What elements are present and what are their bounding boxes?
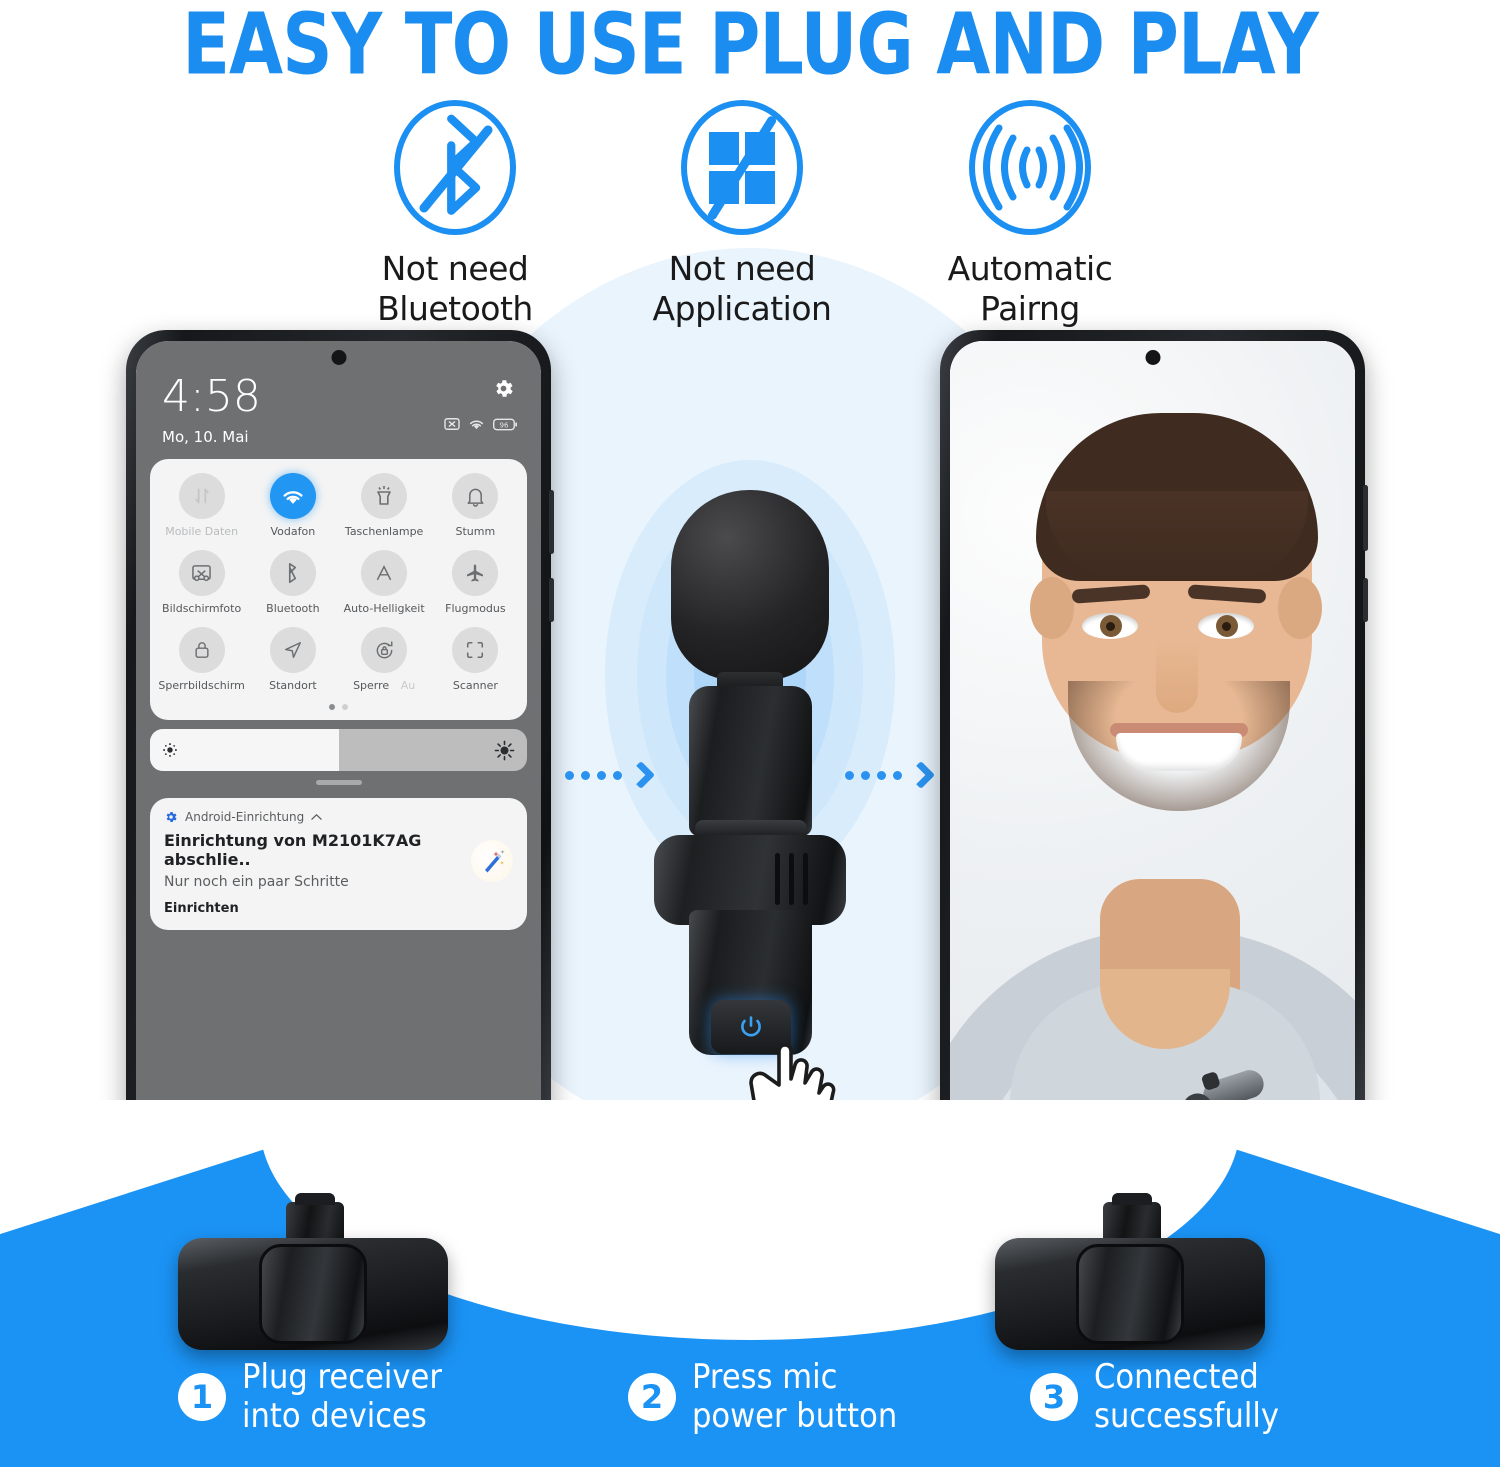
power-button[interactable] — [549, 578, 554, 622]
hair-shadow — [1046, 491, 1308, 581]
arrow-dot — [877, 771, 886, 780]
smiling-man-with-lavalier-mic — [950, 341, 1355, 1199]
qs-label: Taschenlampe — [339, 525, 430, 538]
qs-tile-location[interactable]: Standort — [247, 627, 338, 692]
feature-no-application: Not needApplication — [592, 100, 892, 330]
feature-label: Not needBluetooth — [305, 249, 605, 330]
notification-header: Android-Einrichtung — [164, 810, 513, 824]
arrow-dot — [893, 771, 902, 780]
qs-tile-scanner[interactable]: Scanner — [430, 627, 521, 692]
notification-card[interactable]: Android-Einrichtung Einrichtung von M210… — [150, 798, 527, 930]
step-number-badge: 1 — [178, 1373, 226, 1421]
notification-app-name: Android-Einrichtung — [185, 810, 304, 824]
battery-icon: 96 — [493, 418, 517, 431]
mobile-data-icon[interactable] — [179, 473, 225, 519]
notification-title: Einrichtung von M2101K7AG abschlie.. — [164, 831, 513, 869]
usb-c-receiver-right — [995, 1238, 1265, 1350]
magic-wand-icon — [471, 840, 513, 882]
brightness-slider[interactable] — [150, 729, 527, 771]
mic-grill-vents — [775, 853, 808, 905]
phone-right — [940, 330, 1365, 1210]
qs-label: Standort — [247, 679, 338, 692]
mouth — [1116, 733, 1242, 771]
receiver-center-module — [259, 1244, 367, 1344]
brightness-high-icon — [494, 740, 515, 761]
quick-settings-row: Bildschirmfoto Bluetooth — [156, 550, 521, 615]
qs-tile-wifi[interactable]: Vodafon — [247, 473, 338, 538]
rotation-lock-icon[interactable] — [361, 627, 407, 673]
clock: 4:58 — [162, 375, 515, 419]
qs-tile-mute[interactable]: Stumm — [430, 473, 521, 538]
mic-foam-windscreen — [671, 490, 829, 680]
phone-left-screen[interactable]: 4:58 Mo, 10. Mai — [136, 341, 541, 1199]
quick-settings-row: Sperrbildschirm Standort — [156, 627, 521, 692]
phone-right-screen[interactable] — [950, 341, 1355, 1199]
quick-settings-card: Mobile Daten Vodafon — [150, 459, 527, 720]
chevron-up-icon — [311, 813, 322, 821]
qs-label: Stumm — [430, 525, 521, 538]
feature-label: AutomaticPairng — [880, 249, 1180, 330]
status-bar: 4:58 Mo, 10. Mai — [136, 341, 541, 446]
status-icons: 96 — [444, 417, 517, 431]
application-disabled-icon — [681, 100, 803, 235]
volume-button[interactable] — [1363, 485, 1368, 551]
wireless-lavalier-microphone — [648, 490, 853, 1110]
power-button[interactable] — [1363, 578, 1368, 622]
qs-label: Scanner — [430, 679, 521, 692]
receiver-center-module — [1076, 1244, 1184, 1344]
wifi-icon — [468, 417, 485, 431]
poster-canvas: EASY TO USE PLUG AND PLAY Not needBlueto… — [0, 0, 1500, 1467]
arrow-right-icon — [565, 765, 651, 785]
bluetooth-icon[interactable] — [270, 550, 316, 596]
step-label: Plug receiver into devices — [242, 1358, 442, 1437]
notification-action-button[interactable]: Einrichten — [164, 901, 513, 916]
pupil-right — [1222, 622, 1231, 631]
step-3: 3 Connected successfully — [1030, 1358, 1300, 1437]
arrow-right-icon — [845, 765, 931, 785]
lock-icon[interactable] — [179, 627, 225, 673]
usb-c-receiver-left — [178, 1238, 448, 1350]
qs-tile-flashlight[interactable]: Taschenlampe — [339, 473, 430, 538]
notification-subtitle: Nur noch ein paar Schritte — [164, 874, 513, 890]
page-dot[interactable] — [342, 704, 348, 710]
page-dot-active[interactable] — [329, 704, 335, 710]
arrow-dot — [861, 771, 870, 780]
step-label: Press mic power button — [692, 1358, 897, 1437]
step-label: Connected successfully — [1094, 1358, 1279, 1437]
phone-left: 4:58 Mo, 10. Mai — [126, 330, 551, 1210]
ear-right — [1278, 577, 1322, 639]
qs-tile-rotation-lock[interactable]: Sperre Au — [339, 627, 430, 692]
qs-label: Bildschirmfoto — [156, 602, 247, 615]
feature-automatic-pairing: AutomaticPairng — [880, 100, 1180, 330]
bell-icon[interactable] — [452, 473, 498, 519]
feature-row: Not needBluetooth Not needApplication — [0, 100, 1500, 320]
brightness-low-icon — [162, 742, 178, 758]
qs-label: Vodafon — [247, 525, 338, 538]
arrow-chevron — [907, 761, 935, 789]
front-camera-icon — [1145, 350, 1160, 365]
feature-label: Not needApplication — [592, 249, 892, 330]
step-number-badge: 3 — [1030, 1373, 1078, 1421]
steps-row: 1 Plug receiver into devices 2 Press mic… — [0, 1358, 1500, 1468]
qs-label-truncated: Au — [401, 679, 416, 692]
quick-settings-page-dots[interactable] — [156, 704, 521, 710]
bluetooth-disabled-icon — [394, 100, 516, 235]
qs-tile-auto-brightness[interactable]: Auto-Helligkeit — [339, 550, 430, 615]
panel-grabber[interactable] — [316, 780, 362, 785]
step-number-badge: 2 — [628, 1373, 676, 1421]
quick-settings-row: Mobile Daten Vodafon — [156, 473, 521, 538]
arrow-dot — [565, 771, 574, 780]
qs-label: Auto-Helligkeit — [339, 602, 430, 615]
gear-icon[interactable] — [492, 377, 515, 400]
qs-tile-bluetooth[interactable]: Bluetooth — [247, 550, 338, 615]
wifi-icon[interactable] — [270, 473, 316, 519]
step-1: 1 Plug receiver into devices — [178, 1358, 464, 1437]
qs-tile-screenshot[interactable]: Bildschirmfoto — [156, 550, 247, 615]
auto-brightness-icon[interactable] — [361, 550, 407, 596]
step-2: 2 Press mic power button — [628, 1358, 920, 1437]
qs-tile-mobile-data[interactable]: Mobile Daten — [156, 473, 247, 538]
page-title: EASY TO USE PLUG AND PLAY — [60, 0, 1440, 94]
arrow-dot — [597, 771, 606, 780]
wireless-signal-icon — [969, 100, 1091, 235]
qs-label: Sperrbildschirm — [156, 679, 247, 692]
qs-label: Flugmodus — [430, 602, 521, 615]
screenshot-icon[interactable] — [179, 550, 225, 596]
android-setup-gear-icon — [164, 810, 178, 824]
scanner-icon[interactable] — [452, 627, 498, 673]
qs-label: Bluetooth — [247, 602, 338, 615]
svg-text:96: 96 — [500, 421, 509, 429]
selfie-video-preview — [950, 341, 1355, 1199]
pupil-left — [1106, 622, 1115, 631]
brightness-fill — [150, 729, 339, 771]
mic-upper-body — [689, 686, 812, 836]
qs-tile-airplane[interactable]: Flugmodus — [430, 550, 521, 615]
qs-tile-lockscreen[interactable]: Sperrbildschirm — [156, 627, 247, 692]
airplane-icon[interactable] — [452, 550, 498, 596]
arrow-dot — [613, 771, 622, 780]
nose — [1156, 641, 1198, 713]
volume-button[interactable] — [549, 490, 554, 554]
no-sim-icon — [444, 417, 460, 431]
location-icon[interactable] — [270, 627, 316, 673]
qs-label: Sperre Au — [339, 679, 430, 692]
feature-no-bluetooth: Not needBluetooth — [305, 100, 605, 330]
quick-settings-panel: 4:58 Mo, 10. Mai — [136, 341, 541, 1199]
qs-label: Mobile Daten — [156, 525, 247, 538]
arrow-dot — [581, 771, 590, 780]
ear-left — [1030, 577, 1074, 639]
flashlight-icon[interactable] — [361, 473, 407, 519]
